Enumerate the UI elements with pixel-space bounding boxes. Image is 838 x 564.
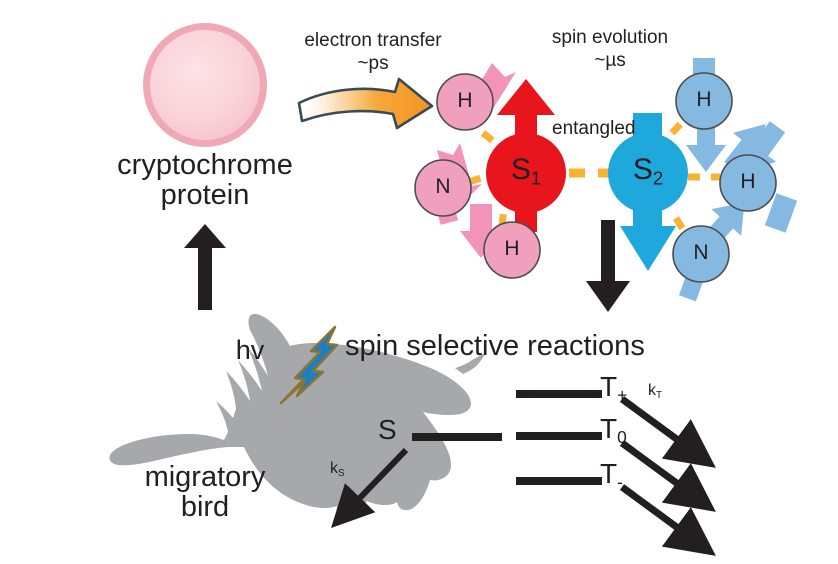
radical-1-label: S1	[496, 154, 556, 188]
rate-triplet-symbol: k	[648, 382, 656, 399]
nucleus-label-H-right-top: H	[684, 89, 724, 111]
radical-2-subscript: 2	[653, 168, 663, 189]
energy-level-singlet	[412, 433, 502, 441]
cryptochrome-label-line2: protein	[80, 180, 330, 210]
radical-2-label: S2	[618, 154, 678, 188]
triplet-zero-label: T0	[600, 414, 660, 446]
spin-evolution-line2: ~µs	[520, 51, 700, 71]
bird-label-line1: migratory	[80, 462, 330, 492]
triplet-minus-subscript: -	[617, 472, 623, 492]
radical-1-symbol: S	[511, 153, 531, 186]
cryptochrome-protein-circle	[143, 23, 267, 147]
spin-evolution-line1: spin evolution	[520, 28, 700, 48]
energy-level-triplet-plus	[516, 390, 602, 398]
triplet-zero-symbol: T	[600, 413, 617, 444]
cryptochrome-protein-label: cryptochrome protein	[80, 150, 330, 211]
triplet-minus-label: T-	[600, 459, 660, 491]
electron-transfer-line1: electron transfer	[283, 31, 463, 51]
bird-label-line2: bird	[80, 492, 330, 522]
triplet-zero-subscript: 0	[617, 427, 627, 447]
rate-triplet-subscript: T	[656, 390, 662, 401]
energy-level-triplet-zero	[516, 432, 602, 440]
triplet-plus-subscript: +	[617, 385, 627, 405]
migratory-bird-label: migratory bird	[80, 462, 330, 523]
excitation-up-arrow	[184, 224, 226, 310]
radical-2-symbol: S	[633, 153, 653, 186]
photon-energy-label: hv	[215, 336, 285, 364]
cryptochrome-label-line1: cryptochrome	[80, 150, 330, 180]
entangled-label: entangled	[552, 119, 672, 139]
singlet-level-label: S	[378, 415, 418, 444]
rate-constant-singlet-label: kS	[330, 461, 370, 479]
electron-transfer-line2: ~ps	[283, 54, 463, 74]
radical-1-subscript: 1	[531, 168, 541, 189]
reaction-down-arrow	[586, 220, 630, 312]
nucleus-label-N-right: N	[681, 242, 721, 264]
triplet-minus-symbol: T	[600, 458, 617, 489]
figure-canvas: cryptochrome protein migratory bird hv e…	[0, 0, 838, 564]
nucleus-label-H-left-top: H	[445, 90, 485, 112]
nucleus-label-H-left-bottom: H	[492, 238, 532, 260]
spin-evolution-label: spin evolution ~µs	[520, 28, 700, 71]
rate-constant-triplet-label: kT	[648, 383, 688, 401]
electron-transfer-arrow-icon	[299, 79, 432, 128]
spin-selective-reactions-heading: spin selective reactions	[345, 331, 765, 361]
rate-singlet-subscript: S	[338, 468, 345, 479]
energy-level-triplet-minus	[516, 477, 602, 485]
electron-transfer-label: electron transfer ~ps	[283, 31, 463, 74]
nucleus-label-H-right-mid: H	[728, 171, 768, 193]
triplet-plus-symbol: T	[600, 371, 617, 402]
rate-singlet-symbol: k	[330, 460, 338, 477]
nucleus-label-N-left: N	[423, 176, 463, 198]
